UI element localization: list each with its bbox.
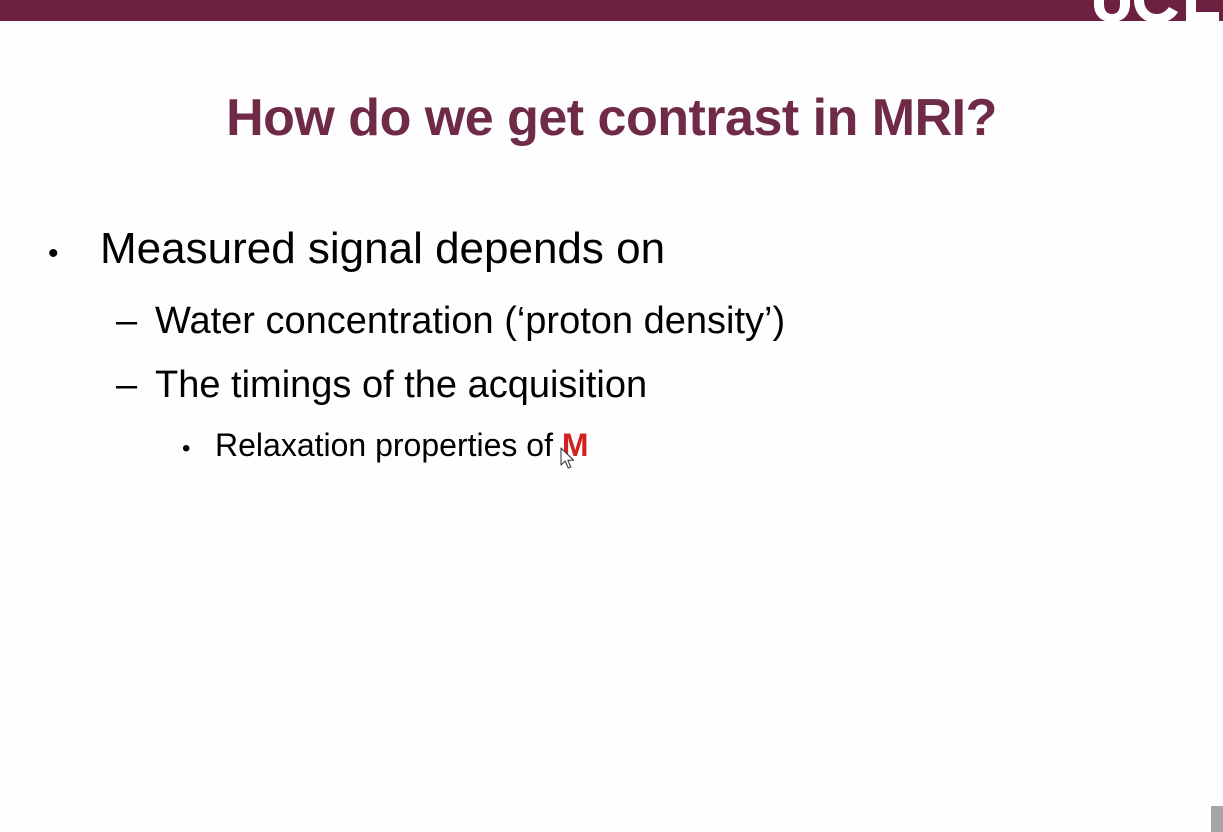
bullet-level1: • Measured signal depends on [0, 218, 1223, 285]
bullet-level2-water: – Water concentration (‘proton density’) [0, 289, 1223, 353]
bullet-text-group: Relaxation properties of M [215, 417, 589, 473]
bullet-marker-dash: – [116, 353, 155, 417]
bullet-level2-timings: – The timings of the acquisition [0, 353, 1223, 417]
bullet-marker-dot: • [182, 421, 215, 477]
bullet-marker-dash: – [116, 289, 155, 353]
vertical-scrollbar-thumb[interactable] [1211, 806, 1223, 832]
page-title: How do we get contrast in MRI? [0, 88, 1223, 148]
bullet-level3-relaxation: • Relaxation properties of M [0, 417, 1223, 477]
bullet-text: Measured signal depends on [100, 218, 665, 280]
vertical-scrollbar[interactable] [1211, 0, 1223, 832]
slide-viewer: How do we get contrast in MRI? • Measure… [0, 0, 1223, 832]
bullet-text: Water concentration (‘proton density’) [155, 289, 785, 353]
slide-body: • Measured signal depends on – Water con… [0, 218, 1223, 477]
bullet-text: The timings of the acquisition [155, 353, 647, 417]
bullet-marker-dot: • [48, 223, 100, 285]
header-band [0, 0, 1223, 21]
magnetization-symbol: M [562, 427, 589, 463]
bullet-text: Relaxation properties of [215, 427, 562, 463]
